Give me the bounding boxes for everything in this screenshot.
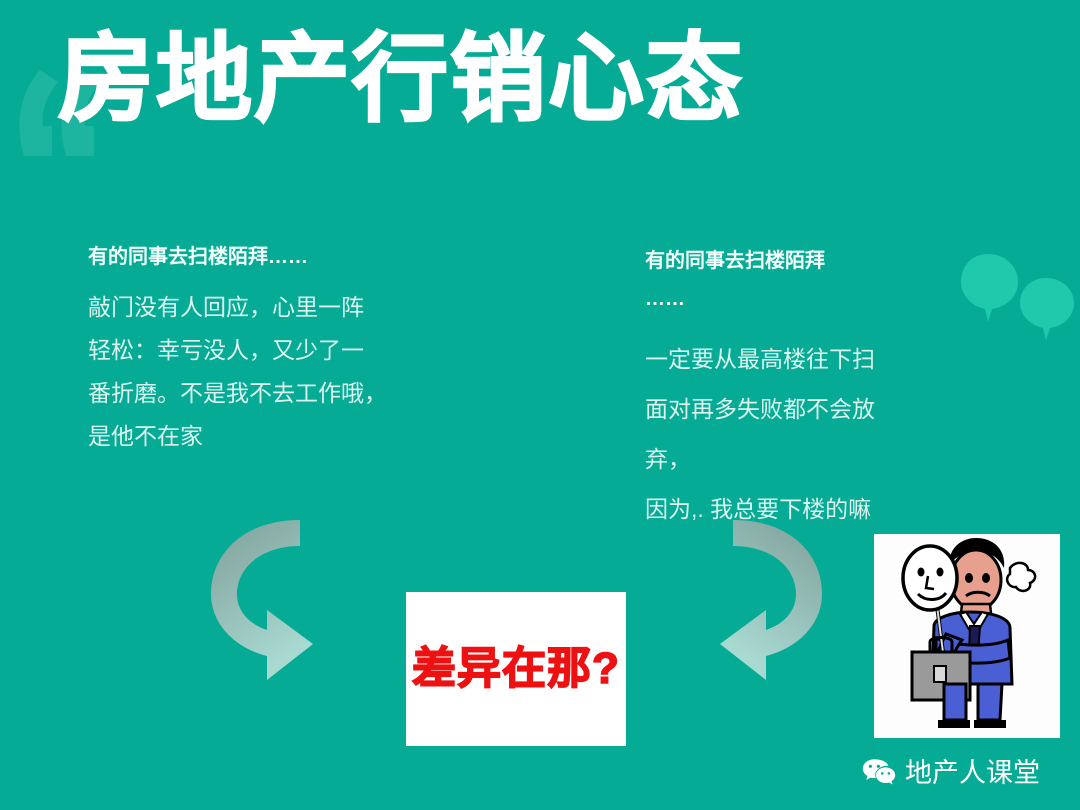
column-left-body-line: 轻松：幸亏没人，又少了一 <box>88 329 468 372</box>
column-right-body-line: 因为,. 我总要下楼的嘛 <box>645 484 945 534</box>
callout-text: 差异在那? <box>412 643 620 695</box>
column-left-body-line: 敲门没有人回应，心里一阵 <box>88 286 468 329</box>
column-left-body-line: 番折磨。不是我不去工作哦， <box>88 372 468 415</box>
slide-canvas: 房地产行销心态 有的同事去扫楼陌拜…… 敲门没有人回应，心里一阵 轻松：幸亏没人… <box>0 0 1080 810</box>
column-right-body: 一定要从最高楼往下扫 面对再多失败都不会放 弃， 因为,. 我总要下楼的嘛 <box>645 334 945 534</box>
callout-box: 差异在那? <box>406 592 626 746</box>
column-left-heading: 有的同事去扫楼陌拜…… <box>88 242 468 272</box>
column-right-heading: 有的同事去扫楼陌拜 …… <box>645 242 945 318</box>
speech-bubbles-icon <box>958 252 1076 348</box>
wechat-icon <box>862 758 896 788</box>
column-left-body: 敲门没有人回应，心里一阵 轻松：幸亏没人，又少了一 番折磨。不是我不去工作哦， … <box>88 286 468 458</box>
businessman-holding-smiling-mask-icon <box>874 534 1060 738</box>
column-right-body-line: 弃， <box>645 434 945 484</box>
column-left-body-line: 是他不在家 <box>88 415 468 458</box>
page-title: 房地产行销心态 <box>58 24 744 136</box>
curved-arrow-right-down-icon <box>205 512 395 687</box>
watermark-label: 地产人课堂 <box>905 758 1040 788</box>
clipart-panel <box>874 534 1060 738</box>
watermark: 地产人课堂 <box>862 758 1040 788</box>
column-right-body-line: 面对再多失败都不会放 <box>645 384 945 434</box>
column-right-heading-ellipsis: …… <box>645 280 945 318</box>
column-right-body-line: 一定要从最高楼往下扫 <box>645 334 945 384</box>
column-right-heading-line: 有的同事去扫楼陌拜 <box>645 242 945 280</box>
text-column-right: 有的同事去扫楼陌拜 …… 一定要从最高楼往下扫 面对再多失败都不会放 弃， 因为… <box>645 242 945 534</box>
curved-arrow-left-down-icon <box>638 512 828 687</box>
text-column-left: 有的同事去扫楼陌拜…… 敲门没有人回应，心里一阵 轻松：幸亏没人，又少了一 番折… <box>88 242 468 458</box>
